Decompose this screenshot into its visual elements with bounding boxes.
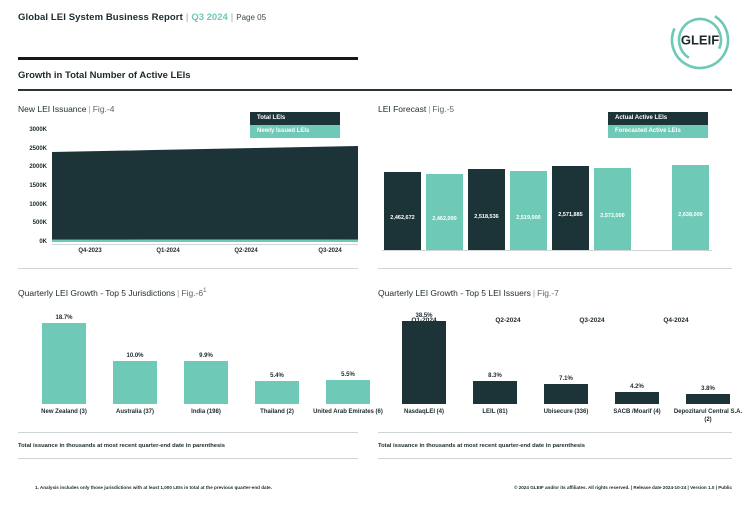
header-divider <box>18 57 358 60</box>
fig7-bar-nasdaqlei: 38.5% <box>402 321 446 404</box>
fig5-value-actual-q1: 2,462,672 <box>390 215 414 221</box>
fig6-fill-australia <box>113 361 157 404</box>
fig4-ytick-1500: 1500K <box>29 183 47 189</box>
fig6-label-new-zealand: New Zealand (3) <box>27 408 101 416</box>
fig6-fill-india <box>184 361 228 404</box>
fig6-label-india: India (198) <box>169 408 243 416</box>
fig6-label-australia: Australia (37) <box>98 408 172 416</box>
fig5-value-forecast-q3: 2,572,000 <box>600 213 624 219</box>
fig7-value-nasdaqlei: 38.5% <box>415 313 432 319</box>
page-number: Page 05 <box>236 13 266 22</box>
fig7-bar-depozitarul: 3.8% <box>686 394 730 404</box>
fig7-bar-sacb-moarif: 4.2% <box>615 392 659 404</box>
report-quarter: Q3 2024 <box>191 12 227 23</box>
fig7-fill-nasdaqlei <box>402 321 446 404</box>
fig7-title: Quarterly LEI Growth - Top 5 LEI Issuers… <box>378 288 559 298</box>
fig7-fill-depozitarul <box>686 394 730 404</box>
fig6-bar-uae: 5.5% <box>326 380 370 404</box>
fig4-ytick-2000: 2000K <box>29 164 47 170</box>
fig4-ytick-500: 500K <box>33 220 47 226</box>
fig7-label-nasdaqlei: NasdaqLEI (4) <box>387 408 461 416</box>
fig5-value-actual-q3: 2,571,885 <box>558 212 582 218</box>
fig7-label-depozitarul: Depozitarul Central S.A. (2) <box>671 408 745 424</box>
fig5-legend: Actual Active LEIs Forecasted Active LEI… <box>608 112 708 138</box>
fig6-bar-india: 9.9% <box>184 361 228 404</box>
fig6-note-divider <box>18 458 358 459</box>
fig6-label-uae: United Arab Emirates (6) <box>311 408 385 416</box>
fig7-title-sep: | <box>533 288 535 298</box>
fig5-value-forecast-q4: 2,638,000 <box>678 212 702 218</box>
panel-lei-forecast: LEI Forecast|Fig.-5 <box>378 104 454 114</box>
fig6-bar-thailand: 5.4% <box>255 381 299 404</box>
fig4-ytick-3000: 3000K <box>29 127 47 133</box>
fig4-x-axis <box>52 244 358 245</box>
page-footnote: 1. Analysis includes only those jurisdic… <box>35 485 272 490</box>
fig4-legend-item-total: Total LEIs <box>250 112 340 125</box>
fig7-value-leil: 8.3% <box>488 373 502 379</box>
title-separator-1: | <box>186 12 188 23</box>
fig7-value-depozitarul: 3.8% <box>701 386 715 392</box>
fig6-figure-text: Fig.-6 <box>181 288 203 298</box>
fig6-title-text: Quarterly LEI Growth - Top 5 Jurisdictio… <box>18 288 175 298</box>
fig6-note: Total issuance in thousands at most rece… <box>18 443 225 449</box>
gleif-logo-text: GLEIF <box>681 33 719 48</box>
gleif-logo-icon: GLEIF <box>668 8 732 72</box>
fig6-value-australia: 10.0% <box>126 353 143 359</box>
fig5-value-forecast-q1: 2,462,000 <box>432 216 456 222</box>
fig5-bar-actual-q2: 2,518,536 <box>468 169 505 250</box>
fig6-fill-new-zealand <box>42 323 86 404</box>
fig5-bar-actual-q3: 2,571,885 <box>552 166 589 250</box>
fig6-figure-label: Fig.-61 <box>181 288 206 298</box>
fig4-bottom-divider <box>18 268 358 269</box>
fig7-bar-leil: 8.3% <box>473 381 517 404</box>
fig6-title-sep: | <box>177 288 179 298</box>
page-header: Global LEI System Business Report|Q3 202… <box>0 0 750 80</box>
fig6-bottom-divider <box>18 432 358 433</box>
fig7-label-leil: LEIL (81) <box>458 408 532 416</box>
section-divider <box>18 89 732 91</box>
fig5-bar-forecast-q3: 2,572,000 <box>594 168 631 250</box>
fig7-label-ubisecure: Ubisecure (336) <box>529 408 603 416</box>
fig4-xtick-q3-2024: Q3-2024 <box>318 248 341 254</box>
fig7-value-ubisecure: 7.1% <box>559 376 573 382</box>
fig7-figure-label: Fig.-7 <box>537 288 559 298</box>
fig4-plot-area: 0K 500K 1000K 1500K 2000K 2500K 3000K <box>52 130 358 242</box>
fig4-title-sep: | <box>89 104 91 114</box>
fig5-legend-item-actual: Actual Active LEIs <box>608 112 708 125</box>
fig6-label-thailand: Thailand (2) <box>240 408 314 416</box>
fig5-title: LEI Forecast|Fig.-5 <box>378 104 454 114</box>
fig6-plot-area: 18.7% 10.0% 9.9% 5.4% 5.5% <box>18 312 370 404</box>
fig6-value-thailand: 5.4% <box>270 373 284 379</box>
fig6-bar-new-zealand: 18.7% <box>42 323 86 404</box>
fig4-figure-label: Fig.-4 <box>93 104 115 114</box>
fig5-bar-forecast-q4: 2,638,000 <box>672 165 709 250</box>
fig5-legend-item-forecast: Forecasted Active LEIs <box>608 125 708 138</box>
fig4-xtick-q2-2024: Q2-2024 <box>234 248 257 254</box>
fig7-title-text: Quarterly LEI Growth - Top 5 LEI Issuers <box>378 288 531 298</box>
fig4-ytick-2500: 2500K <box>29 146 47 152</box>
page-copyright: © 2024 GLEIF and/or its affiliates. All … <box>514 485 732 490</box>
fig5-title-sep: | <box>428 104 430 114</box>
fig6-value-uae: 5.5% <box>341 372 355 378</box>
fig4-ytick-0: 0K <box>39 239 47 245</box>
fig6-value-new-zealand: 18.7% <box>55 315 72 321</box>
fig5-figure-label: Fig.-5 <box>432 104 454 114</box>
fig6-fill-uae <box>326 380 370 404</box>
fig5-plot-area: Q1-2024 Q2-2024 Q3-2024 Q4-2024 2,462,67… <box>382 165 712 250</box>
fig5-bottom-divider <box>378 268 732 269</box>
panel-top5-issuers: Quarterly LEI Growth - Top 5 LEI Issuers… <box>378 288 559 298</box>
fig5-title-text: LEI Forecast <box>378 104 426 114</box>
fig7-value-sacb-moarif: 4.2% <box>630 384 644 390</box>
fig4-area-series <box>52 130 358 242</box>
report-title: Global LEI System Business Report <box>18 12 183 23</box>
fig4-title-text: New LEI Issuance <box>18 104 87 114</box>
report-page: Global LEI System Business Report|Q3 202… <box>0 0 750 509</box>
fig7-bottom-divider <box>378 432 732 433</box>
fig7-fill-sacb-moarif <box>615 392 659 404</box>
fig7-note-divider <box>378 458 732 459</box>
fig6-bar-australia: 10.0% <box>113 361 157 404</box>
title-separator-2: | <box>231 12 233 23</box>
fig4-xtick-q1-2024: Q1-2024 <box>156 248 179 254</box>
fig6-figure-superscript: 1 <box>203 288 206 294</box>
fig4-ytick-1000: 1000K <box>29 202 47 208</box>
fig5-value-actual-q2: 2,518,536 <box>474 214 498 220</box>
fig4-xtick-q4-2023: Q4-2023 <box>78 248 101 254</box>
section-heading: Growth in Total Number of Active LEIs <box>18 70 191 81</box>
fig5-bar-forecast-q1: 2,462,000 <box>426 174 463 250</box>
fig6-fill-thailand <box>255 381 299 404</box>
fig7-fill-leil <box>473 381 517 404</box>
fig7-fill-ubisecure <box>544 384 588 404</box>
panel-top5-jurisdictions: Quarterly LEI Growth - Top 5 Jurisdictio… <box>18 288 206 298</box>
fig5-value-forecast-q2: 2,519,000 <box>516 215 540 221</box>
fig4-title: New LEI Issuance|Fig.-4 <box>18 104 114 114</box>
fig7-plot-area: 38.5% 8.3% 7.1% 4.2% 3.8% <box>378 312 730 404</box>
fig7-bar-ubisecure: 7.1% <box>544 384 588 404</box>
fig5-x-axis <box>382 250 712 251</box>
fig6-title: Quarterly LEI Growth - Top 5 Jurisdictio… <box>18 288 206 298</box>
fig7-label-sacb-moarif: SACB /Moarif (4) <box>600 408 674 416</box>
fig5-bar-actual-q1: 2,462,672 <box>384 172 421 250</box>
fig6-value-india: 9.9% <box>199 353 213 359</box>
panel-new-lei-issuance: New LEI Issuance|Fig.-4 <box>18 104 114 114</box>
fig5-bar-forecast-q2: 2,519,000 <box>510 171 547 250</box>
breadcrumb: Global LEI System Business Report|Q3 202… <box>18 12 266 23</box>
fig7-note: Total issuance in thousands at most rece… <box>378 443 585 449</box>
